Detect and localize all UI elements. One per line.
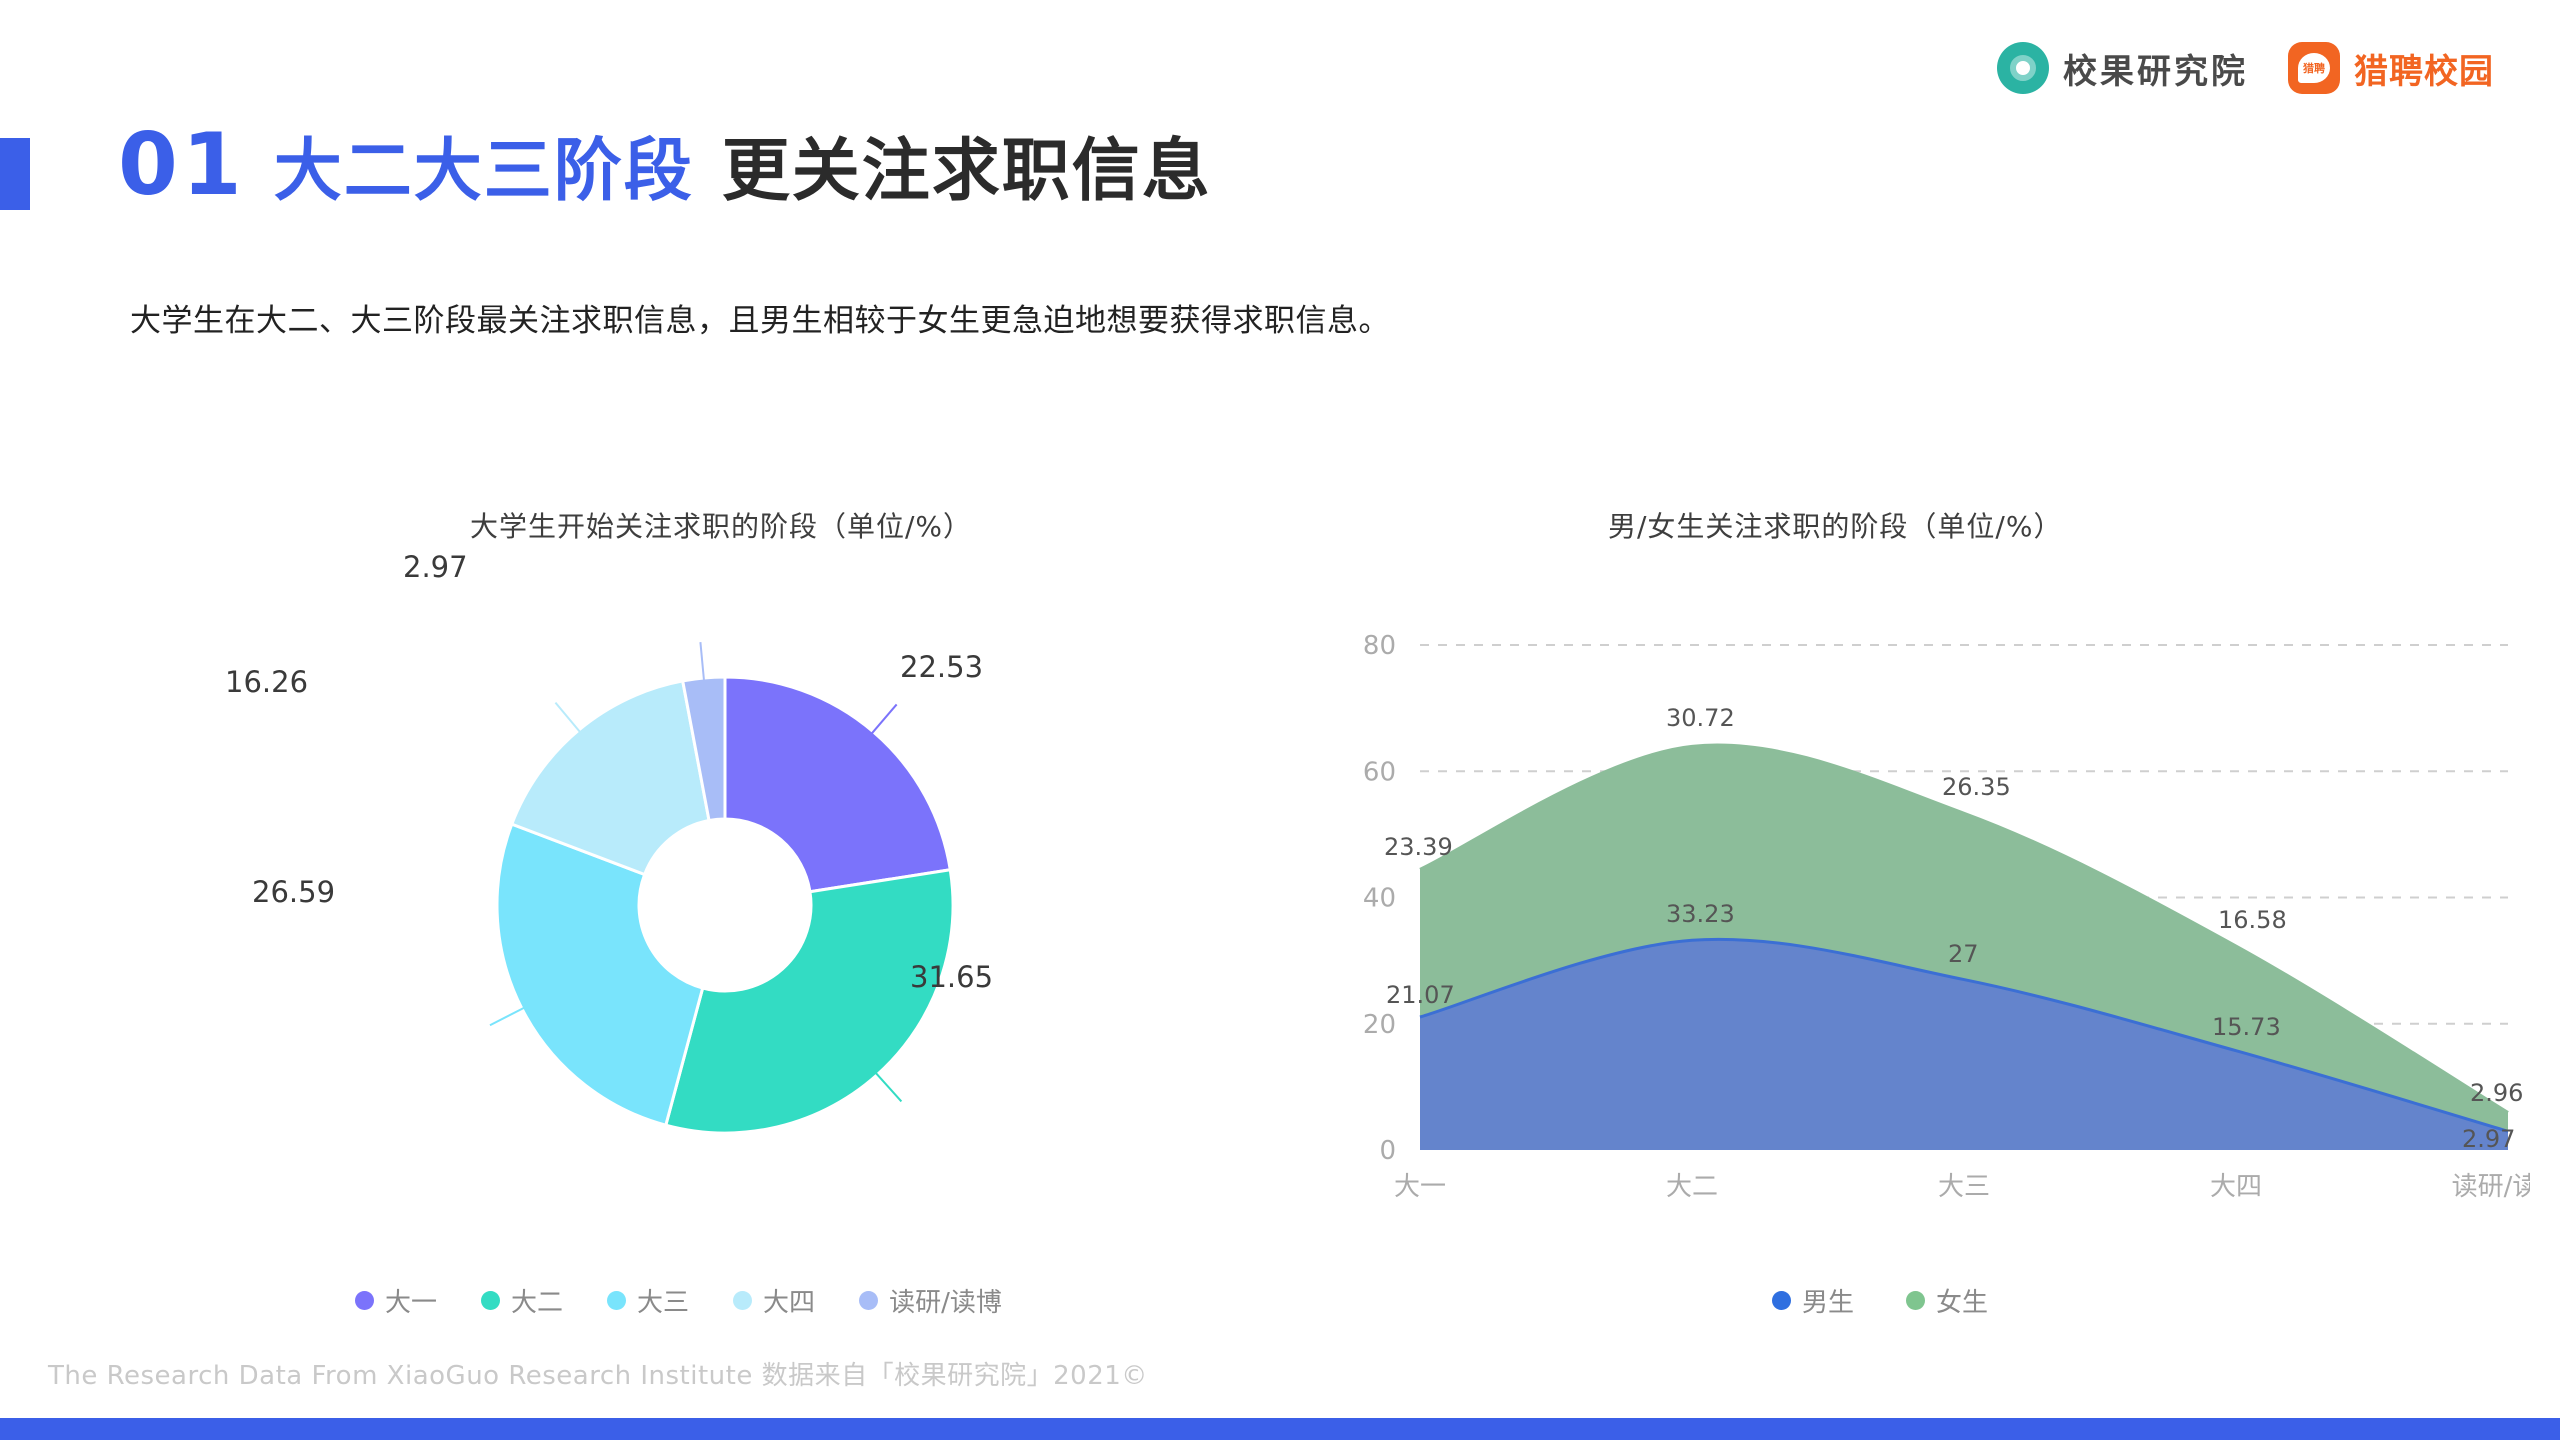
- liepin-badge-text: 猎聘: [2303, 63, 2325, 74]
- y-axis-tick: 20: [1363, 1010, 1396, 1040]
- legend-dot-icon: [1772, 1291, 1791, 1310]
- x-axis-tick: 大四: [2210, 1172, 2262, 1202]
- donut-legend-label: 大一: [385, 1282, 437, 1319]
- area-legend-item[interactable]: 男生: [1772, 1282, 1854, 1319]
- donut-slice-value: 31.65: [910, 960, 993, 994]
- donut-legend-item[interactable]: 大二: [481, 1282, 563, 1319]
- area-value-label: 2.97: [2462, 1125, 2515, 1153]
- brand-logos: 校果研究院 猎聘 猎聘校园: [1997, 42, 2494, 94]
- donut-slice: [497, 824, 703, 1125]
- area-value-label: 26.35: [1942, 773, 2011, 801]
- legend-dot-icon: [481, 1291, 500, 1310]
- donut-chart: 22.5331.6526.5916.262.97: [330, 560, 1150, 1260]
- x-axis-tick: 大二: [1666, 1172, 1718, 1202]
- section-number: 01: [118, 122, 246, 208]
- xiaoguo-circle-icon: [1997, 42, 2049, 94]
- legend-dot-icon: [1906, 1291, 1925, 1310]
- x-axis-tick: 读研/读博: [2452, 1172, 2530, 1202]
- legend-dot-icon: [607, 1291, 626, 1310]
- donut-leader-line: [490, 1006, 527, 1025]
- liepin-logo-text: 猎聘校园: [2354, 44, 2494, 93]
- donut-leader-line: [555, 703, 582, 735]
- donut-leader-line: [869, 704, 896, 736]
- donut-legend-label: 读研/读博: [889, 1282, 1002, 1319]
- y-axis-tick: 60: [1363, 757, 1396, 787]
- donut-slice-value: 22.53: [900, 650, 983, 684]
- area-chart: 020406080大一大二大三大四读研/读博 21.0733.232715.73…: [1330, 590, 2530, 1260]
- area-value-label: 23.39: [1384, 833, 1453, 861]
- donut-leader-line: [873, 1070, 901, 1101]
- area-legend-item[interactable]: 女生: [1906, 1282, 1988, 1319]
- area-value-label: 21.07: [1386, 981, 1455, 1009]
- accent-bar: [0, 138, 30, 210]
- legend-dot-icon: [733, 1291, 752, 1310]
- page-title: 01 大二大三阶段 更关注求职信息: [118, 122, 1212, 208]
- donut-chart-title: 大学生开始关注求职的阶段（单位/%）: [470, 505, 972, 545]
- legend-dot-icon: [859, 1291, 878, 1310]
- area-value-label: 2.96: [2470, 1079, 2523, 1107]
- donut-legend-item[interactable]: 读研/读博: [859, 1282, 1002, 1319]
- area-svg: 020406080大一大二大三大四读研/读博: [1330, 590, 2530, 1260]
- donut-slice: [666, 870, 953, 1133]
- area-legend-label: 女生: [1936, 1282, 1988, 1319]
- donut-legend-item[interactable]: 大一: [355, 1282, 437, 1319]
- donut-svg: [330, 560, 1150, 1260]
- y-axis-tick: 0: [1379, 1136, 1396, 1166]
- liepin-logo: 猎聘 猎聘校园: [2288, 42, 2494, 94]
- donut-legend-label: 大三: [637, 1282, 689, 1319]
- donut-slice-value: 16.26: [225, 665, 308, 699]
- y-axis-tick: 80: [1363, 631, 1396, 661]
- liepin-bubble-icon: 猎聘: [2288, 42, 2340, 94]
- area-value-label: 33.23: [1666, 900, 1735, 928]
- slide-root: 校果研究院 猎聘 猎聘校园 01 大二大三阶段 更关注求职信息 大学生在大二、大…: [0, 0, 2560, 1440]
- donut-legend-label: 大二: [511, 1282, 563, 1319]
- area-value-label: 27: [1948, 940, 1979, 968]
- donut-slice-value: 2.97: [403, 550, 468, 584]
- xiaoguo-logo-text: 校果研究院: [2063, 44, 2248, 93]
- donut-legend-item[interactable]: 大三: [607, 1282, 689, 1319]
- x-axis-tick: 大三: [1938, 1172, 1990, 1202]
- x-axis-tick: 大一: [1394, 1172, 1446, 1202]
- donut-legend-item[interactable]: 大四: [733, 1282, 815, 1319]
- area-legend: 男生女生: [1772, 1282, 1988, 1319]
- area-value-label: 15.73: [2212, 1013, 2281, 1041]
- area-legend-label: 男生: [1802, 1282, 1854, 1319]
- bottom-accent-bar: [0, 1418, 2560, 1440]
- donut-legend: 大一大二大三大四读研/读博: [355, 1282, 1002, 1319]
- area-chart-title: 男/女生关注求职的阶段（单位/%）: [1608, 505, 2062, 545]
- xiaoguo-logo: 校果研究院: [1997, 42, 2248, 94]
- donut-legend-label: 大四: [763, 1282, 815, 1319]
- title-highlight: 大二大三阶段: [274, 138, 694, 206]
- footer-note: The Research Data From XiaoGuo Research …: [48, 1355, 1148, 1392]
- donut-slice-value: 26.59: [252, 875, 335, 909]
- y-axis-tick: 40: [1363, 884, 1396, 914]
- page-subtitle: 大学生在大二、大三阶段最关注求职信息，且男生相较于女生更急迫地想要获得求职信息。: [130, 295, 1390, 340]
- title-rest: 更关注求职信息: [722, 138, 1212, 206]
- area-value-label: 16.58: [2218, 906, 2287, 934]
- legend-dot-icon: [355, 1291, 374, 1310]
- area-value-label: 30.72: [1666, 704, 1735, 732]
- donut-slice: [725, 677, 950, 892]
